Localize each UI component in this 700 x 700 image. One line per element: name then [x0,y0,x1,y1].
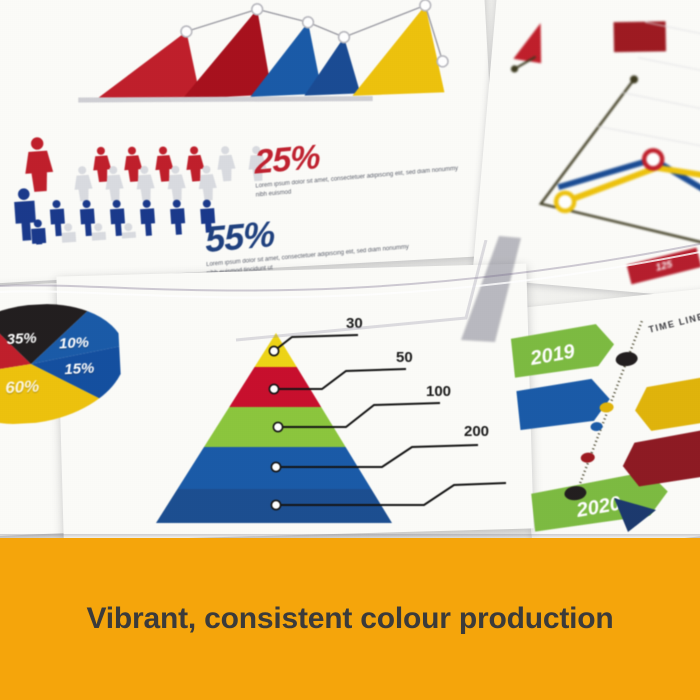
stat-block: 25% Lorem ipsum dolor sit amet, consecte… [194,129,448,281]
pie-label-blue-15: 15% [64,360,95,379]
chart-axes [538,72,700,248]
pie-label-black: 35% [6,330,37,349]
pyramid-labels: 30 50 100 200 [106,327,506,527]
pie-label-yellow: 60% [5,377,40,399]
timeline-banner-yellow [632,367,700,432]
pyramid-label-50: 50 [396,349,413,366]
line-series-yellow [565,160,700,217]
timeline-dot-1 [615,351,638,367]
line-marker-yellow [555,192,575,212]
caption-banner: Vibrant, consistent colour production [0,538,700,700]
sail-bar-1 [89,31,201,103]
line-chart-bar-2 [513,21,544,63]
photo-scene: 25% Lorem ipsum dolor sit amet, consecte… [0,0,700,700]
pie-label-blue-10: 10% [59,334,90,353]
pyramid-label-30: 30 [346,315,363,332]
line-marker-red [643,150,663,170]
caption-text: Vibrant, consistent colour production [86,602,613,636]
pyramid-label-100: 100 [426,383,451,400]
timeline-dot-4 [580,452,595,463]
pyramid-label-200: 200 [464,423,489,440]
pie-labels: 0% 35% 10% 15% 60% [0,300,123,427]
line-chart-bar-1 [614,21,667,52]
